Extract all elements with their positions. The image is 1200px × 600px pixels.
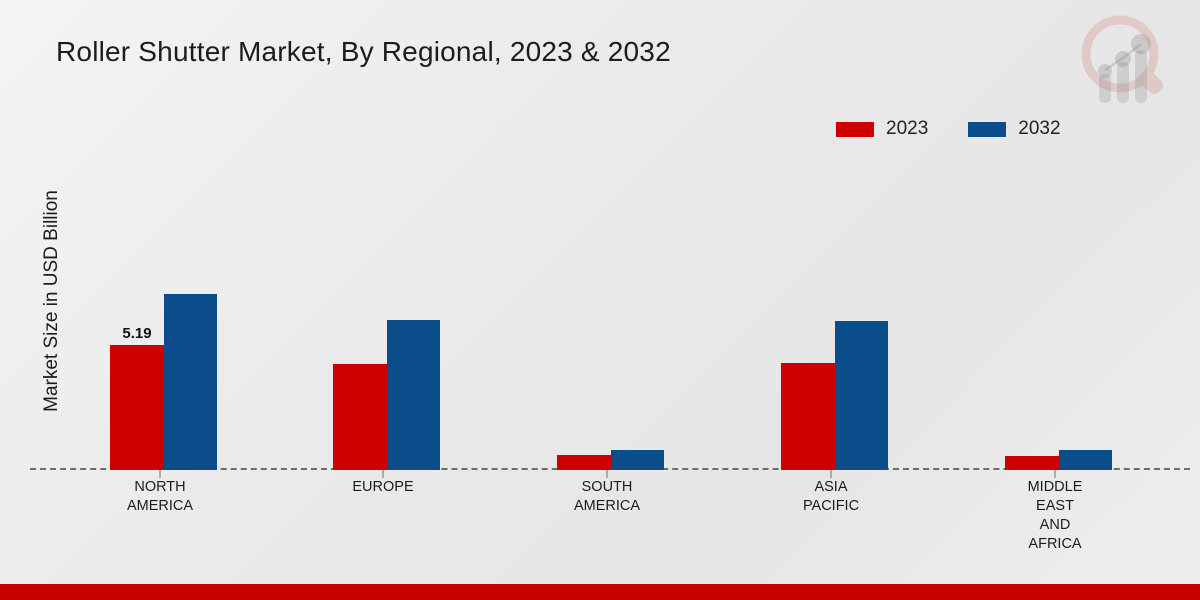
x-axis-label-south-america: SOUTH AMERICA — [574, 478, 640, 516]
x-axis-label-asia-pacific: ASIA PACIFIC — [803, 478, 859, 516]
x-axis-tick-middle-east-and-africa — [1055, 470, 1056, 478]
bar-group-north-america: 5.19 NORTH AMERICA — [110, 170, 210, 470]
chart-page: Roller Shutter Market, By Regional, 2023… — [0, 0, 1200, 600]
bar-group-south-america: SOUTH AMERICA — [557, 170, 657, 470]
x-axis-tick-south-america — [607, 470, 608, 478]
bar-2023-middle-east-and-africa[interactable] — [1005, 456, 1059, 470]
bar-group-europe: EUROPE — [333, 170, 433, 470]
bar-2032-south-america[interactable] — [611, 450, 664, 470]
bar-2032-europe[interactable] — [387, 320, 440, 470]
legend-item-2032[interactable]: 2032 — [968, 118, 1060, 140]
x-axis-label-line: PACIFIC — [803, 498, 859, 514]
bar-2032-middle-east-and-africa[interactable] — [1059, 450, 1112, 470]
x-axis-label-line: SOUTH — [582, 479, 633, 495]
footer-strip — [0, 584, 1200, 600]
plot-area: 5.19 NORTH AMERICA EUROPE — [30, 170, 1190, 470]
bar-group-middle-east-and-africa: MIDDLE EAST AND AFRICA — [1005, 170, 1105, 470]
bar-2023-europe[interactable] — [333, 364, 387, 470]
x-axis-label-line: AMERICA — [574, 498, 640, 514]
x-axis-label-line: ASIA — [814, 479, 847, 495]
x-axis-label-line: AND — [1040, 517, 1071, 533]
bar-2032-asia-pacific[interactable] — [835, 321, 888, 470]
page-title: Roller Shutter Market, By Regional, 2023… — [56, 36, 671, 68]
x-axis-tick-north-america — [160, 470, 161, 478]
x-axis-label-line: EUROPE — [352, 479, 413, 495]
x-axis-tick-asia-pacific — [831, 470, 832, 478]
chart-legend: 2023 2032 — [836, 118, 1061, 140]
x-axis-label-north-america: NORTH AMERICA — [127, 478, 193, 516]
bar-2023-north-america[interactable]: 5.19 — [110, 345, 164, 470]
legend-item-2023[interactable]: 2023 — [836, 118, 928, 140]
x-axis-label-line: EAST — [1036, 498, 1074, 514]
bar-2023-south-america[interactable] — [557, 455, 611, 470]
x-axis-label-line: MIDDLE — [1028, 479, 1083, 495]
x-axis-label-line: AMERICA — [127, 498, 193, 514]
legend-swatch-2023 — [836, 122, 874, 137]
legend-swatch-2032 — [968, 122, 1006, 137]
x-axis-label-line: AFRICA — [1028, 536, 1081, 552]
bar-value-label-2023-north-america: 5.19 — [122, 325, 151, 342]
bar-group-asia-pacific: ASIA PACIFIC — [781, 170, 881, 470]
x-axis-label-middle-east-and-africa: MIDDLE EAST AND AFRICA — [1028, 478, 1083, 555]
x-axis-label-line: NORTH — [134, 479, 185, 495]
x-axis-tick-europe — [383, 470, 384, 478]
legend-label-2032: 2032 — [1018, 118, 1060, 140]
market-research-future-logo-icon — [1072, 8, 1182, 113]
bar-2032-north-america[interactable] — [164, 294, 217, 470]
x-axis-label-europe: EUROPE — [352, 478, 413, 497]
bar-2023-asia-pacific[interactable] — [781, 363, 835, 470]
legend-label-2023: 2023 — [886, 118, 928, 140]
